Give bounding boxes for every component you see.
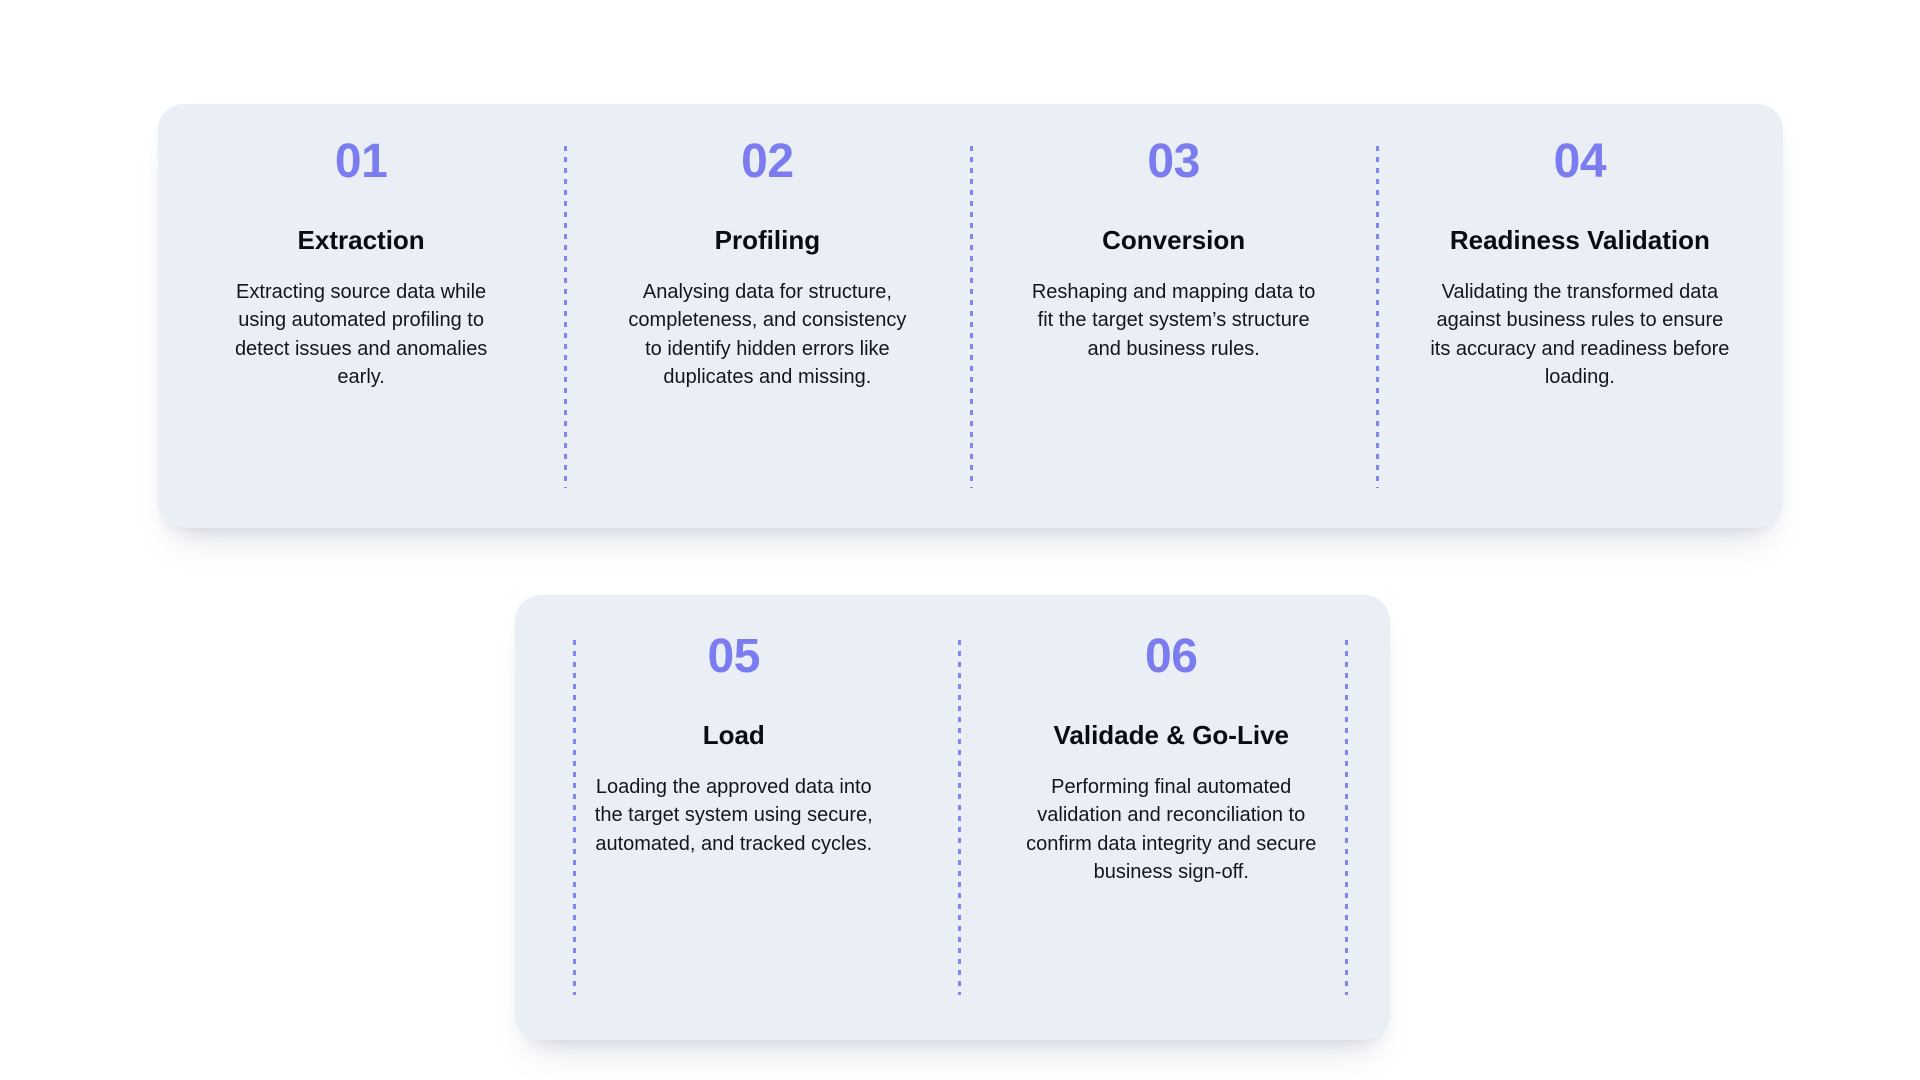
step-description: Reshaping and mapping data to fit the ta… [1024, 278, 1324, 363]
step-description: Analysing data for structure, completene… [617, 278, 917, 392]
process-panel-top: 01 Extraction Extracting source data whi… [158, 104, 1783, 528]
step-title: Extraction [298, 226, 425, 256]
step-title: Conversion [1102, 226, 1245, 256]
step-number: 03 [1147, 138, 1199, 186]
process-step-05: 05 Load Loading the approved data into t… [515, 595, 953, 1040]
step-title: Profiling [715, 226, 820, 256]
step-title: Load [703, 721, 765, 751]
process-step-02: 02 Profiling Analysing data for structur… [564, 104, 970, 528]
step-number: 04 [1554, 138, 1606, 186]
step-description: Extracting source data while using autom… [211, 278, 511, 392]
step-description: Performing final automated validation an… [1021, 773, 1321, 887]
diagram-canvas: 01 Extraction Extracting source data whi… [0, 0, 1920, 1080]
step-number: 06 [1145, 633, 1197, 681]
step-description: Loading the approved data into the targe… [584, 773, 884, 858]
process-step-04: 04 Readiness Validation Validating the t… [1377, 104, 1783, 528]
step-description: Validating the transformed data against … [1430, 278, 1730, 392]
step-title: Validade & Go-Live [1053, 721, 1289, 751]
process-step-03: 03 Conversion Reshaping and mapping data… [971, 104, 1377, 528]
step-number: 05 [708, 633, 760, 681]
process-panel-bottom: 05 Load Loading the approved data into t… [515, 595, 1390, 1040]
step-number: 01 [335, 138, 387, 186]
process-step-01: 01 Extraction Extracting source data whi… [158, 104, 564, 528]
step-number: 02 [741, 138, 793, 186]
step-title: Readiness Validation [1450, 226, 1710, 256]
process-step-06: 06 Validade & Go-Live Performing final a… [953, 595, 1391, 1040]
